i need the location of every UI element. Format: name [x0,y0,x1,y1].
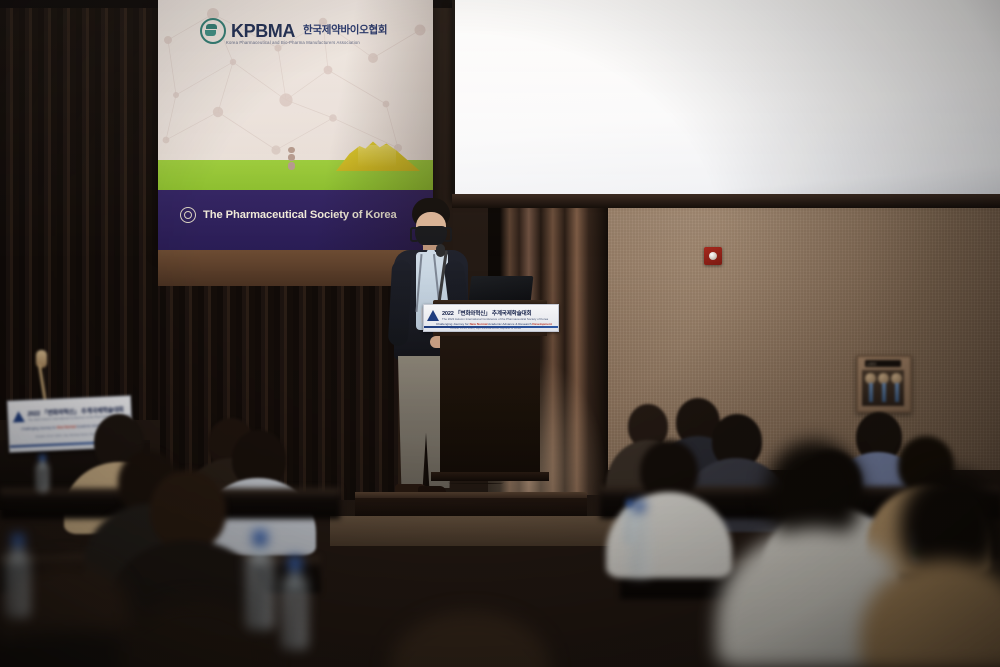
cabinet-nozzle-1 [865,373,876,403]
conference-triangle-logo-icon-left [12,411,24,423]
podium-sign-sub-korean: The 2022 Autumn International Conference… [442,317,548,321]
water-bottle [246,530,274,630]
water-bottle [6,534,30,618]
podium-sign-sub-english: Challenging Journey for New Normal Acade… [436,322,552,326]
conference-photo: KPBMA 한국제약바이오협회 Korea Pharmaceutical and… [0,0,1000,667]
projection-screen [455,0,1000,194]
cabinet-nozzle-3 [891,373,902,403]
left-gooseneck-microphone [40,350,44,402]
cabinet-nozzle-2 [878,373,889,403]
conference-triangle-logo-icon [427,310,439,321]
floor-cable [448,481,504,484]
fire-hose-cabinet: 소화전 [856,355,912,413]
lectern-base [431,472,549,481]
fire-alarm-bell-icon [704,247,722,265]
podium-sign: 2022 「변화와혁신」 추계국제학술대회 The 2022 Autumn In… [423,304,559,332]
podium-sign-headline: 2022 「변화와혁신」 추계국제학술대회 [442,309,531,317]
water-bottle [282,556,308,650]
lectern-body [440,330,540,475]
floor [330,516,630,546]
audience-head [150,470,226,550]
left-wood-slat-wall [0,0,160,420]
podium-sign-rule [424,326,558,328]
laptop-on-lectern [469,276,534,302]
microphone-icon [436,244,445,257]
projection-screen-shadow [452,194,1000,208]
water-bottle [36,455,49,493]
audience-head [390,612,550,667]
cabinet-glass [862,370,904,406]
water-bottle [628,500,650,578]
cabinet-label-text: 소화전 [867,361,876,366]
lectern: 2022 「변화와혁신」 추계국제학술대회 The 2022 Autumn In… [440,300,540,500]
cabinet-label-plate: 소화전 [865,360,901,367]
